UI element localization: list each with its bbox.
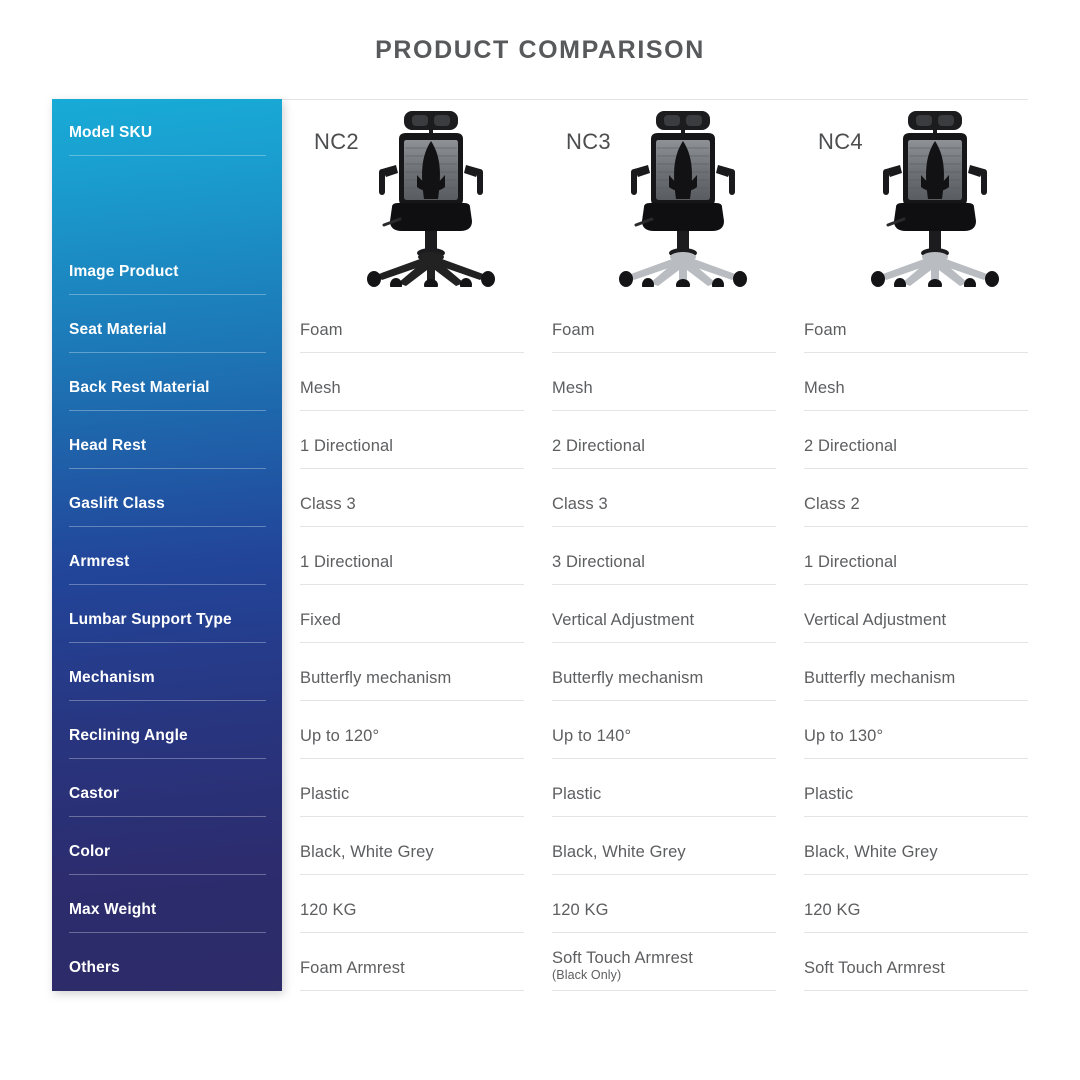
sidebar-label: Armrest — [69, 553, 130, 571]
cell-others: Soft Touch Armrest(Black Only) — [552, 933, 776, 991]
cell-mechanism: Butterfly mechanism — [804, 643, 1028, 701]
cell-value: 1 Directional — [300, 552, 393, 572]
cell-seat-material: Foam — [804, 295, 1028, 353]
feature-label-sidebar: Model SKUImage ProductSeat MaterialBack … — [52, 99, 282, 991]
cell-lumbar-support-type: Vertical Adjustment — [804, 585, 1028, 643]
sidebar-label: Color — [69, 843, 110, 861]
sidebar-label: Back Rest Material — [69, 379, 210, 397]
cell-value-main: Fixed — [300, 611, 341, 629]
cell-value-main: Class 2 — [804, 495, 860, 513]
sidebar-label: Castor — [69, 785, 119, 803]
cell-value-main: Mesh — [300, 379, 341, 397]
cell-value: 3 Directional — [552, 552, 645, 572]
cell-value-main: Plastic — [300, 785, 349, 803]
cell-back-rest-material: Mesh — [552, 353, 776, 411]
cell-value: Class 3 — [552, 494, 608, 514]
cell-seat-material: Foam — [552, 295, 776, 353]
product-header-cell: NC3 — [552, 99, 776, 295]
cell-value: Butterfly mechanism — [300, 668, 451, 688]
cell-value-main: Black, White Grey — [300, 843, 434, 861]
cell-value: Mesh — [552, 378, 593, 398]
product-image-nc3 — [598, 107, 768, 287]
cell-value: Foam — [300, 320, 343, 340]
cell-value: 2 Directional — [804, 436, 897, 456]
sidebar-label: Image Product — [69, 263, 179, 281]
cell-divider — [552, 990, 776, 991]
sidebar-label: Model SKU — [69, 124, 152, 142]
cell-armrest: 1 Directional — [300, 527, 524, 585]
cell-value-main: Plastic — [552, 785, 601, 803]
cell-value-note: (Black Only) — [552, 968, 693, 983]
sidebar-label: Seat Material — [69, 321, 167, 339]
product-comparison-page: PRODUCT COMPARISON Model SKUImage Produc… — [0, 0, 1080, 1080]
cell-value-main: Plastic — [804, 785, 853, 803]
cell-mechanism: Butterfly mechanism — [300, 643, 524, 701]
sidebar-row-color: Color — [69, 817, 266, 875]
cell-value-main: Butterfly mechanism — [300, 669, 451, 687]
product-columns: NC2 — [300, 99, 1028, 991]
cell-castor: Plastic — [804, 759, 1028, 817]
cell-lumbar-support-type: Fixed — [300, 585, 524, 643]
sidebar-row-max-weight: Max Weight — [69, 875, 266, 933]
cell-value-main: Up to 130° — [804, 727, 883, 745]
cell-back-rest-material: Mesh — [300, 353, 524, 411]
cell-value-main: 1 Directional — [300, 437, 393, 455]
cell-value-main: Foam — [804, 321, 847, 339]
cell-lumbar-support-type: Vertical Adjustment — [552, 585, 776, 643]
cell-max-weight: 120 KG — [552, 875, 776, 933]
sidebar-label: Head Rest — [69, 437, 146, 455]
cell-gaslift-class: Class 2 — [804, 469, 1028, 527]
sidebar-row-back-rest-material: Back Rest Material — [69, 353, 266, 411]
cell-value: Up to 130° — [804, 726, 883, 746]
product-column-nc4: NC4 — [804, 99, 1028, 991]
cell-reclining-angle: Up to 120° — [300, 701, 524, 759]
sidebar-label: Gaslift Class — [69, 495, 165, 513]
cell-back-rest-material: Mesh — [804, 353, 1028, 411]
cell-color: Black, White Grey — [804, 817, 1028, 875]
cell-value-main: Up to 140° — [552, 727, 631, 745]
cell-value: 120 KG — [804, 900, 861, 920]
cell-value: Plastic — [804, 784, 853, 804]
cell-value: Soft Touch Armrest — [804, 958, 945, 978]
sidebar-row-image-product: Image Product — [69, 156, 266, 295]
sidebar-label: Mechanism — [69, 669, 155, 687]
cell-value: Vertical Adjustment — [552, 610, 694, 630]
cell-value-main: Black, White Grey — [804, 843, 938, 861]
cell-value: Up to 140° — [552, 726, 631, 746]
cell-value: Mesh — [804, 378, 845, 398]
cell-value: Black, White Grey — [552, 842, 686, 862]
product-header-cell: NC2 — [300, 99, 524, 295]
cell-value-main: 1 Directional — [804, 553, 897, 571]
cell-value-main: Foam Armrest — [300, 959, 405, 977]
sidebar-row-others: Others — [69, 933, 266, 991]
cell-value: Mesh — [300, 378, 341, 398]
comparison-table: Model SKUImage ProductSeat MaterialBack … — [52, 99, 1028, 991]
cell-value: Foam — [804, 320, 847, 340]
cell-armrest: 1 Directional — [804, 527, 1028, 585]
sidebar-label: Lumbar Support Type — [69, 611, 232, 629]
cell-value-main: 120 KG — [300, 901, 357, 919]
cell-value: Black, White Grey — [804, 842, 938, 862]
sidebar-row-gaslift-class: Gaslift Class — [69, 469, 266, 527]
sidebar-row-model-sku: Model SKU — [69, 99, 266, 156]
cell-value-main: 120 KG — [804, 901, 861, 919]
cell-value: Plastic — [300, 784, 349, 804]
cell-value-main: 2 Directional — [552, 437, 645, 455]
cell-value-main: Vertical Adjustment — [552, 611, 694, 629]
cell-value: Class 3 — [300, 494, 356, 514]
page-title: PRODUCT COMPARISON — [0, 36, 1080, 65]
cell-value: Up to 120° — [300, 726, 379, 746]
sidebar-row-lumbar-support-type: Lumbar Support Type — [69, 585, 266, 643]
cell-value: Butterfly mechanism — [804, 668, 955, 688]
sidebar-row-reclining-angle: Reclining Angle — [69, 701, 266, 759]
cell-others: Foam Armrest — [300, 933, 524, 991]
cell-gaslift-class: Class 3 — [300, 469, 524, 527]
cell-armrest: 3 Directional — [552, 527, 776, 585]
cell-value: 120 KG — [552, 900, 609, 920]
cell-value: Butterfly mechanism — [552, 668, 703, 688]
sidebar-label: Reclining Angle — [69, 727, 188, 745]
cell-divider — [804, 990, 1028, 991]
cell-divider — [300, 990, 524, 991]
cell-value-main: Foam — [300, 321, 343, 339]
cell-value-main: Foam — [552, 321, 595, 339]
cell-value-main: Butterfly mechanism — [552, 669, 703, 687]
cell-value: Vertical Adjustment — [804, 610, 946, 630]
cell-max-weight: 120 KG — [804, 875, 1028, 933]
cell-value-main: Mesh — [804, 379, 845, 397]
cell-value-main: Black, White Grey — [552, 843, 686, 861]
sidebar-row-armrest: Armrest — [69, 527, 266, 585]
cell-max-weight: 120 KG — [300, 875, 524, 933]
cell-value-main: 2 Directional — [804, 437, 897, 455]
cell-seat-material: Foam — [300, 295, 524, 353]
cell-value: Foam — [552, 320, 595, 340]
cell-head-rest: 2 Directional — [552, 411, 776, 469]
cell-value-main: 1 Directional — [300, 553, 393, 571]
product-column-nc3: NC3 — [552, 99, 776, 991]
cell-color: Black, White Grey — [300, 817, 524, 875]
product-image-nc2 — [346, 107, 516, 287]
cell-value-main: 3 Directional — [552, 553, 645, 571]
cell-others: Soft Touch Armrest — [804, 933, 1028, 991]
sidebar-row-head-rest: Head Rest — [69, 411, 266, 469]
cell-value: Soft Touch Armrest(Black Only) — [552, 948, 693, 983]
sidebar-row-castor: Castor — [69, 759, 266, 817]
cell-reclining-angle: Up to 140° — [552, 701, 776, 759]
cell-value: Foam Armrest — [300, 958, 405, 978]
cell-castor: Plastic — [552, 759, 776, 817]
product-image-nc4 — [850, 107, 1020, 287]
product-column-nc2: NC2 — [300, 99, 524, 991]
cell-reclining-angle: Up to 130° — [804, 701, 1028, 759]
cell-value-main: Soft Touch Armrest — [552, 949, 693, 967]
cell-value: 1 Directional — [804, 552, 897, 572]
cell-value: Class 2 — [804, 494, 860, 514]
sidebar-label: Max Weight — [69, 901, 156, 919]
cell-value-main: 120 KG — [552, 901, 609, 919]
cell-value-main: Up to 120° — [300, 727, 379, 745]
cell-value-main: Vertical Adjustment — [804, 611, 946, 629]
cell-color: Black, White Grey — [552, 817, 776, 875]
cell-value-main: Mesh — [552, 379, 593, 397]
cell-castor: Plastic — [300, 759, 524, 817]
product-header-cell: NC4 — [804, 99, 1028, 295]
cell-value-main: Class 3 — [300, 495, 356, 513]
cell-value: 120 KG — [300, 900, 357, 920]
cell-value: Fixed — [300, 610, 341, 630]
cell-head-rest: 2 Directional — [804, 411, 1028, 469]
cell-value-main: Butterfly mechanism — [804, 669, 955, 687]
cell-mechanism: Butterfly mechanism — [552, 643, 776, 701]
cell-value: 2 Directional — [552, 436, 645, 456]
cell-value: Plastic — [552, 784, 601, 804]
sidebar-row-seat-material: Seat Material — [69, 295, 266, 353]
sidebar-row-mechanism: Mechanism — [69, 643, 266, 701]
cell-value-main: Soft Touch Armrest — [804, 959, 945, 977]
cell-gaslift-class: Class 3 — [552, 469, 776, 527]
cell-value: 1 Directional — [300, 436, 393, 456]
cell-value-main: Class 3 — [552, 495, 608, 513]
cell-value: Black, White Grey — [300, 842, 434, 862]
cell-head-rest: 1 Directional — [300, 411, 524, 469]
sidebar-label: Others — [69, 959, 120, 977]
